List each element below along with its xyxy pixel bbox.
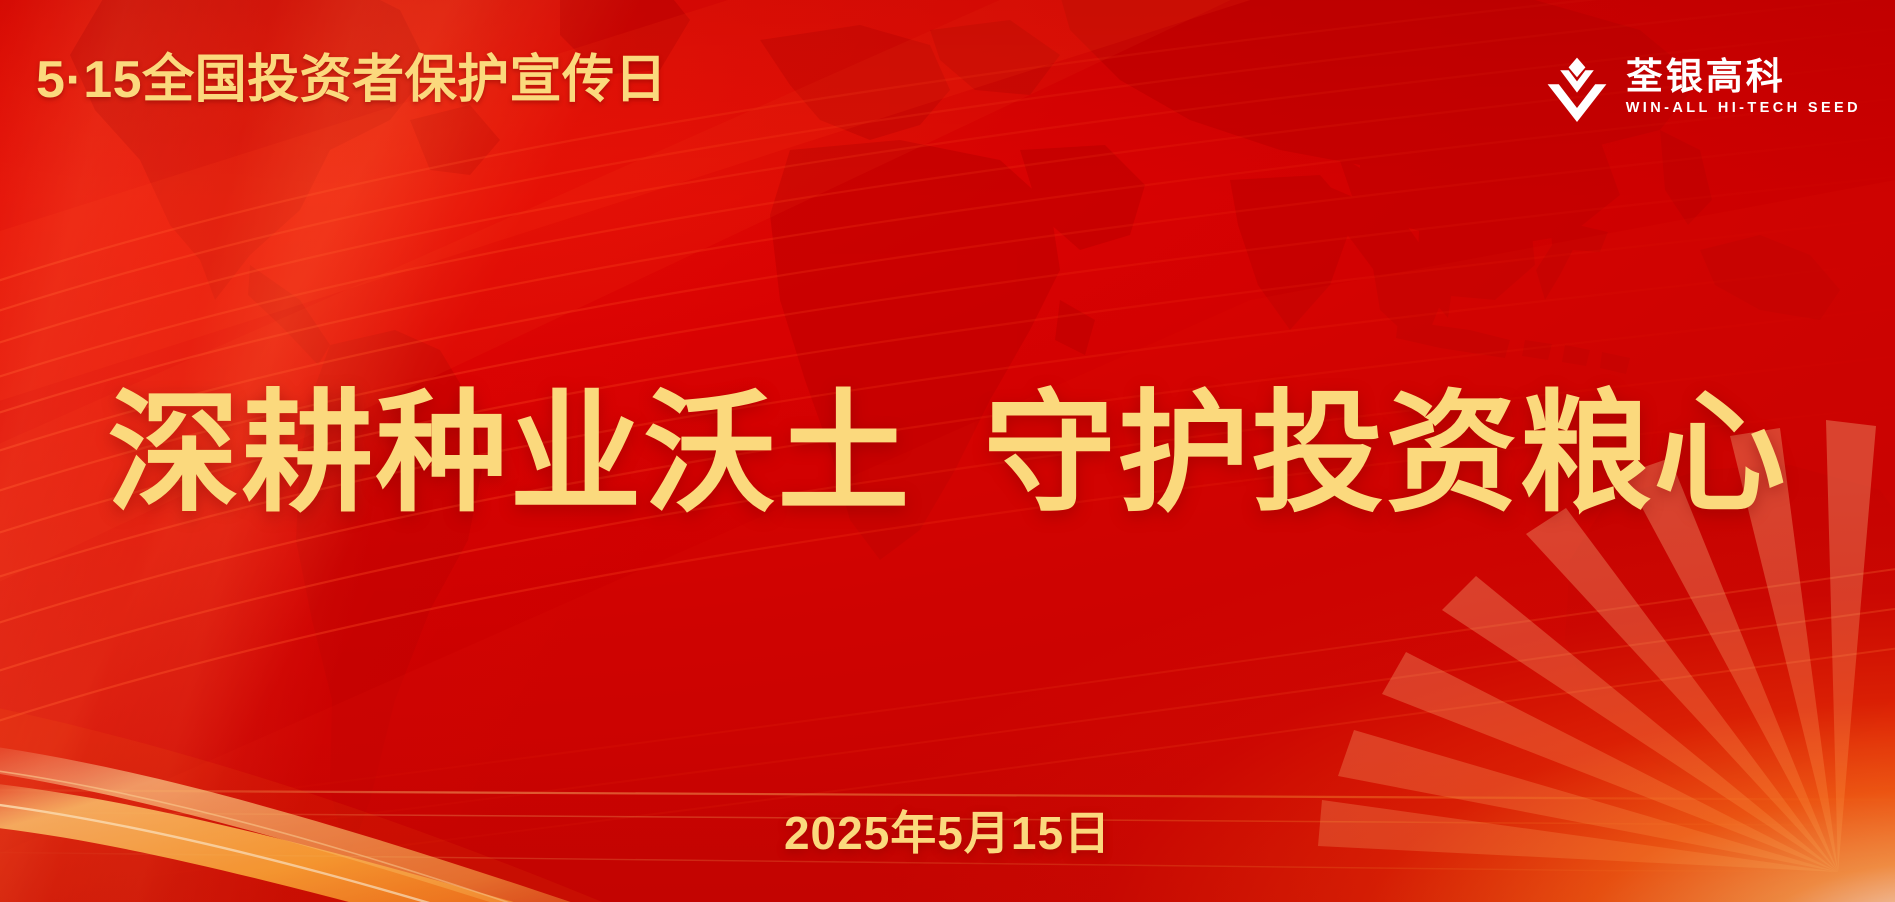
headline-part-2: 守护投资粮心 — [984, 380, 1788, 527]
investor-protection-day-banner: 5·15全国投资者保护宣传日 荃银高科 WIN-ALL HI-TECH SEED… — [0, 0, 1895, 902]
banner-content: 5·15全国投资者保护宣传日 荃银高科 WIN-ALL HI-TECH SEED… — [0, 0, 1895, 902]
logo-wordmark: 荃银高科 WIN-ALL HI-TECH SEED — [1626, 58, 1861, 116]
event-date: 2025年5月15日 — [0, 797, 1895, 863]
company-logo: 荃银高科 WIN-ALL HI-TECH SEED — [1542, 52, 1861, 122]
campaign-eyebrow-title: 5·15全国投资者保护宣传日 — [36, 52, 667, 108]
main-headline: 深耕种业沃土守护投资粮心 — [0, 388, 1895, 520]
headline-part-1: 深耕种业沃土 — [108, 380, 912, 527]
winall-chevron-diamond-logo-icon — [1542, 52, 1612, 122]
logo-company-name-cn: 荃银高科 — [1626, 58, 1786, 97]
logo-company-name-en: WIN-ALL HI-TECH SEED — [1626, 100, 1861, 116]
